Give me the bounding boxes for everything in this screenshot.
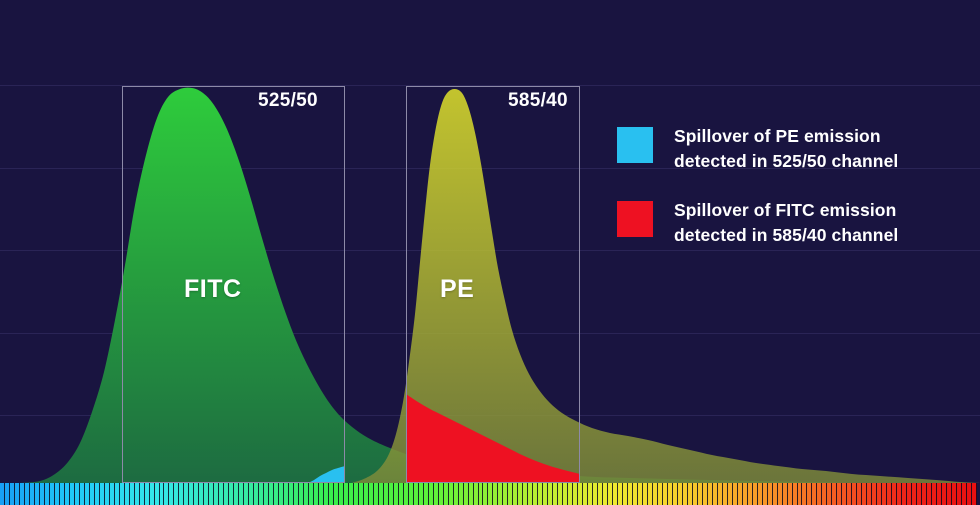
legend-spillover-fitc[interactable]: Spillover of FITC emission detected in 5… xyxy=(617,198,898,248)
legend-spillover-fitc-swatch xyxy=(617,201,653,237)
legend: Spillover of PE emission detected in 525… xyxy=(617,124,898,272)
spectrum-stripe xyxy=(972,483,977,505)
pe-label: PE xyxy=(440,275,474,304)
legend-spillover-pe[interactable]: Spillover of PE emission detected in 525… xyxy=(617,124,898,174)
legend-spillover-pe-swatch xyxy=(617,127,653,163)
wavelength-spectrum-bar xyxy=(0,483,980,505)
legend-spillover-pe-text: Spillover of PE emission detected in 525… xyxy=(674,124,898,174)
fitc-label: FITC xyxy=(184,275,242,304)
legend-spillover-fitc-text: Spillover of FITC emission detected in 5… xyxy=(674,198,898,248)
spectral-overlap-chart: 525/50585/40 FITCPE Spillover of PE emis… xyxy=(0,0,980,505)
